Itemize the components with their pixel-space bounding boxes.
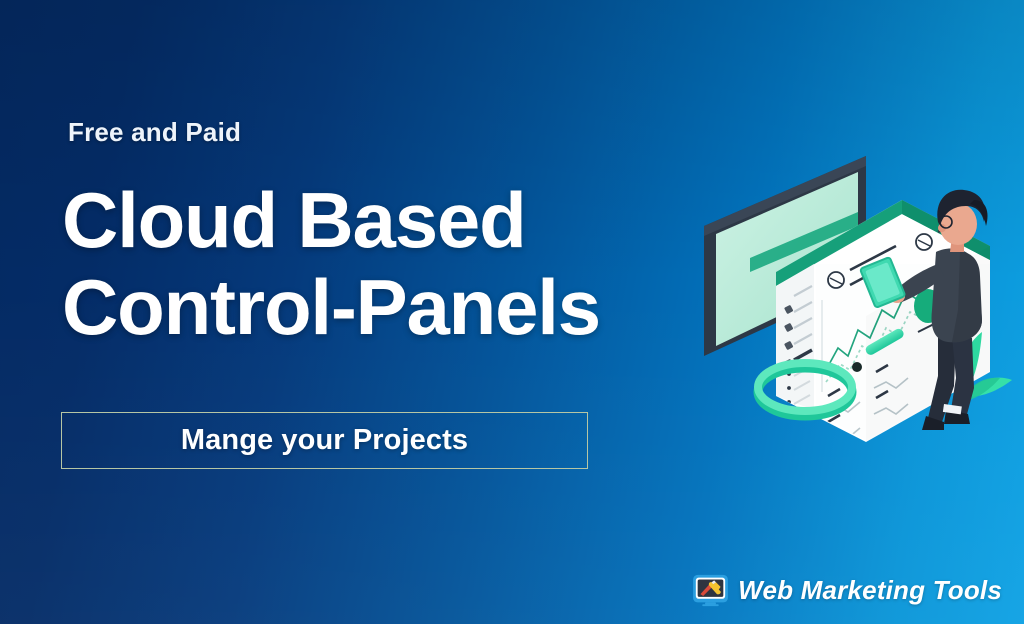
headline-line-2: Control-Panels [62,269,600,345]
brand-logo[interactable]: Web Marketing Tools [692,574,1002,607]
promo-banner: Free and Paid Cloud Based Control-Panels… [0,0,1024,624]
monitor-tools-icon [692,574,729,607]
subtitle-box: Mange your Projects [61,412,588,469]
headline-line-1: Cloud Based [62,176,526,264]
dashboard-analytics-illustration [690,160,1020,430]
subtitle-text: Mange your Projects [181,424,468,457]
eyebrow-text: Free and Paid [68,117,241,148]
page-title: Cloud Based Control-Panels [62,182,600,346]
brand-name: Web Marketing Tools [738,575,1002,606]
